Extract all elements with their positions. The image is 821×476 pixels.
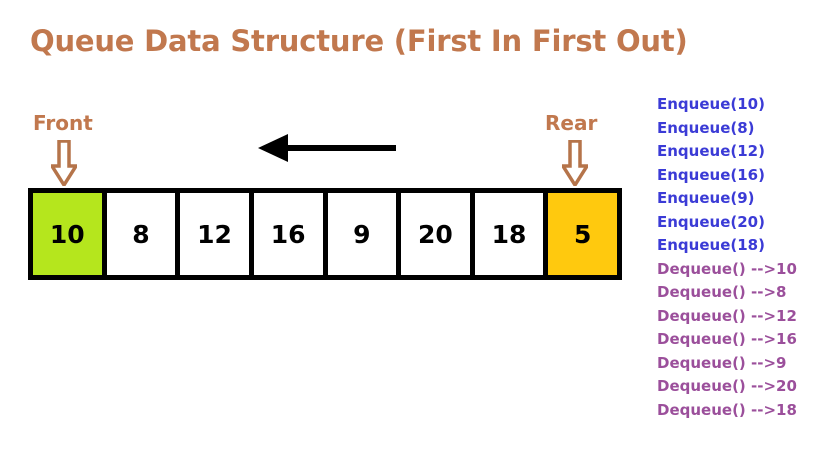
queue-cell-middle-1: 8 <box>107 193 176 275</box>
queue-cell-middle-5: 20 <box>401 193 470 275</box>
operation-line-dequeue-8: Dequeue() -->8 <box>657 281 817 305</box>
operation-line-enqueue-4: Enqueue(9) <box>657 187 817 211</box>
rear-label: Rear <box>545 111 597 135</box>
operation-line-dequeue-11: Dequeue() -->9 <box>657 352 817 376</box>
front-down-arrow-icon <box>51 140 77 186</box>
operation-line-enqueue-1: Enqueue(8) <box>657 117 817 141</box>
operations-list: Enqueue(10)Enqueue(8)Enqueue(12)Enqueue(… <box>657 93 817 422</box>
page-title: Queue Data Structure (First In First Out… <box>30 24 688 58</box>
operation-line-dequeue-12: Dequeue() -->20 <box>657 375 817 399</box>
rear-down-arrow-icon <box>562 140 588 186</box>
operation-line-dequeue-9: Dequeue() -->12 <box>657 305 817 329</box>
queue-cell-middle-4: 9 <box>328 193 397 275</box>
queue-cell-middle-2: 12 <box>180 193 249 275</box>
operation-line-dequeue-7: Dequeue() -->10 <box>657 258 817 282</box>
operation-line-enqueue-2: Enqueue(12) <box>657 140 817 164</box>
queue-cell-middle-3: 16 <box>254 193 323 275</box>
queue-container: 1081216920185 <box>28 188 622 280</box>
operation-line-enqueue-3: Enqueue(16) <box>657 164 817 188</box>
operation-line-dequeue-13: Dequeue() -->18 <box>657 399 817 423</box>
queue-cell-middle-6: 18 <box>475 193 544 275</box>
operation-line-dequeue-10: Dequeue() -->16 <box>657 328 817 352</box>
operation-line-enqueue-5: Enqueue(20) <box>657 211 817 235</box>
front-label: Front <box>33 111 93 135</box>
queue-cell-rear-7: 5 <box>548 193 617 275</box>
dequeue-direction-arrow-icon <box>258 130 398 166</box>
operation-line-enqueue-0: Enqueue(10) <box>657 93 817 117</box>
operation-line-enqueue-6: Enqueue(18) <box>657 234 817 258</box>
queue-cell-front-0: 10 <box>33 193 102 275</box>
